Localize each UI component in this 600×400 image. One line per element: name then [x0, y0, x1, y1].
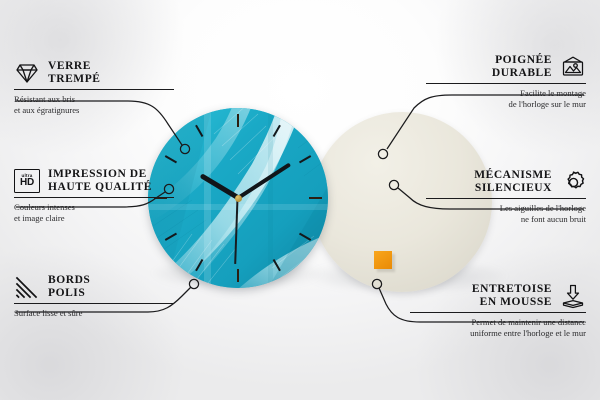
feature-rule: [410, 312, 586, 313]
foam-spacer-pad: [374, 251, 392, 269]
ultra-hd-badge-icon: ultra HD: [14, 168, 40, 194]
feature-description: Résistant aux bris et aux égratignures: [14, 94, 174, 116]
feature-rule: [426, 83, 586, 84]
feature-description: Facilite le montage de l'horloge sur le …: [426, 88, 586, 110]
feature-title: ENTRETOISE EN MOUSSE: [472, 283, 552, 309]
feature-header: ENTRETOISE EN MOUSSE: [410, 283, 586, 309]
feature-title: VERRE TREMPÉ: [48, 60, 101, 86]
feature-rule: [14, 303, 174, 304]
hour-marker-12: [237, 114, 239, 127]
hand-center-cap: [235, 195, 242, 202]
feature-mecanisme-silencieux[interactable]: MÉCANISME SILENCIEUX Les aiguilles de l'…: [426, 169, 586, 225]
hd-badge-big-text: HD: [20, 178, 34, 188]
feature-title: IMPRESSION DE HAUTE QUALITÉ: [48, 168, 152, 194]
feature-header: MÉCANISME SILENCIEUX: [426, 169, 586, 195]
feature-title: POIGNÉE DURABLE: [492, 54, 552, 80]
gear-icon: [560, 169, 586, 195]
feature-header: ultra HD IMPRESSION DE HAUTE QUALITÉ: [14, 168, 174, 194]
feature-header: POIGNÉE DURABLE: [426, 54, 586, 80]
feature-verre-trempe[interactable]: VERRE TREMPÉ Résistant aux bris et aux é…: [14, 60, 174, 116]
diamond-icon: [14, 60, 40, 86]
arrow-onto-layers-icon: [560, 283, 586, 309]
polished-edges-icon: [14, 274, 40, 300]
feature-entretoise-en-mousse[interactable]: ENTRETOISE EN MOUSSE Permet de maintenir…: [410, 283, 586, 339]
feature-description: Couleurs intenses et image claire: [14, 202, 174, 224]
clock-front-face: [148, 108, 328, 288]
feature-title: BORDS POLIS: [48, 274, 90, 300]
feature-header: VERRE TREMPÉ: [14, 60, 174, 86]
feature-description: Les aiguilles de l'horloge ne font aucun…: [426, 203, 586, 225]
infographic-canvas: VERRE TREMPÉ Résistant aux bris et aux é…: [0, 0, 600, 400]
feature-rule: [14, 89, 174, 90]
feature-poignee-durable[interactable]: POIGNÉE DURABLE Facilite le montage de l…: [426, 54, 586, 110]
feature-description: Surface lisse et sûre: [14, 308, 174, 319]
feature-description: Permet de maintenir une distance uniform…: [410, 317, 586, 339]
feature-impression-haute-qualite[interactable]: ultra HD IMPRESSION DE HAUTE QUALITÉ Cou…: [14, 168, 174, 224]
feature-rule: [426, 198, 586, 199]
hour-marker-6: [237, 269, 239, 282]
feature-bords-polis[interactable]: BORDS POLIS Surface lisse et sûre: [14, 274, 174, 319]
feature-header: BORDS POLIS: [14, 274, 174, 300]
feature-rule: [14, 197, 174, 198]
hour-marker-3: [309, 197, 322, 199]
feature-title: MÉCANISME SILENCIEUX: [474, 169, 552, 195]
hanging-frame-icon: [560, 54, 586, 80]
